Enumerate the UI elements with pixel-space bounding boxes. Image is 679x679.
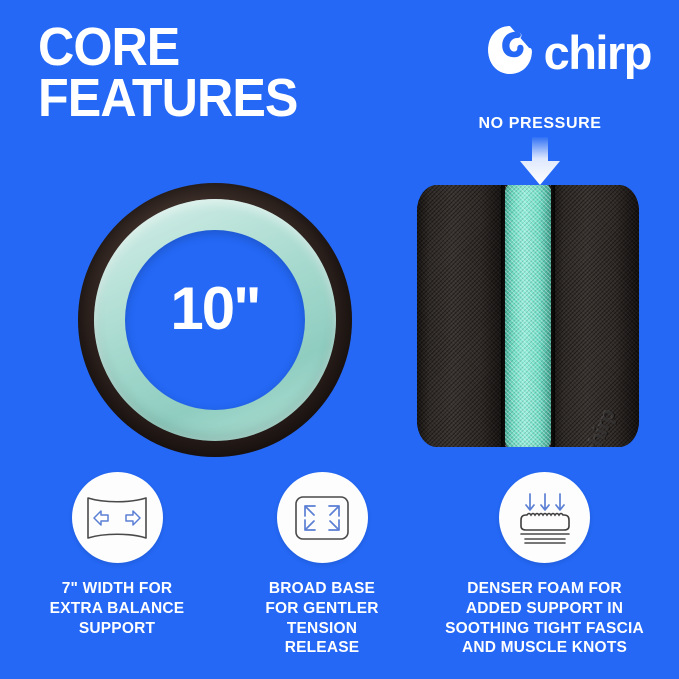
- feature-caption: BROAD BASE FOR GENTLER TENSION RELEASE: [265, 579, 378, 658]
- feature-caption-line: BROAD BASE: [265, 579, 378, 599]
- side-wheel-texture-right: [551, 185, 639, 447]
- brand-logo: chirp: [484, 24, 651, 76]
- feature-caption-line: DENSER FOAM FOR: [445, 579, 644, 599]
- page-title-line-1: CORE: [38, 22, 410, 73]
- product-image-side-wheel: chirp: [417, 185, 639, 447]
- feature-caption-line: EXTRA BALANCE: [50, 599, 185, 619]
- feature-item-denser-foam: DENSER FOAM FOR ADDED SUPPORT IN SOOTHIN…: [420, 472, 670, 658]
- feature-caption-line: FOR GENTLER: [265, 599, 378, 619]
- feature-caption-line: SOOTHING TIGHT FASCIA: [445, 619, 644, 639]
- feature-item-width: 7" WIDTH FOR EXTRA BALANCE SUPPORT: [10, 472, 225, 638]
- product-image-front-wheel: 10": [78, 183, 352, 457]
- page-title-line-2: FEATURES: [38, 73, 410, 124]
- dense-foam-pressure-icon: [511, 490, 579, 546]
- no-pressure-label: NO PRESSURE: [440, 115, 640, 133]
- infographic-page: CORE FEATURES chirp NO PRESSURE 10": [0, 0, 679, 679]
- brand-wordmark: chirp: [544, 29, 651, 76]
- feature-item-broad-base: BROAD BASE FOR GENTLER TENSION RELEASE: [225, 472, 420, 658]
- side-wheel-texture-left: [417, 185, 505, 447]
- wheel-size-label: 10": [78, 279, 352, 339]
- feature-caption: DENSER FOAM FOR ADDED SUPPORT IN SOOTHIN…: [445, 579, 644, 658]
- feature-caption-line: RELEASE: [265, 638, 378, 658]
- page-title: CORE FEATURES: [38, 22, 410, 125]
- side-wheel-band-left: [417, 185, 505, 447]
- feature-caption-line: 7" WIDTH FOR: [50, 579, 185, 599]
- feature-caption-line: TENSION: [265, 619, 378, 639]
- side-wheel-body: chirp: [417, 185, 639, 447]
- feature-list: 7" WIDTH FOR EXTRA BALANCE SUPPORT BROAD…: [0, 472, 679, 658]
- width-arrows-icon: [84, 495, 150, 541]
- feature-caption-line: SUPPORT: [50, 619, 185, 639]
- side-wheel-channel-texture: [505, 185, 551, 447]
- feature-icon-badge: [72, 472, 163, 563]
- feature-icon-badge: [277, 472, 368, 563]
- feature-caption: 7" WIDTH FOR EXTRA BALANCE SUPPORT: [50, 579, 185, 638]
- side-wheel-mint-channel: [505, 185, 551, 447]
- feature-caption-line: ADDED SUPPORT IN: [445, 599, 644, 619]
- feature-caption-line: AND MUSCLE KNOTS: [445, 638, 644, 658]
- feature-icon-badge: [499, 472, 590, 563]
- side-wheel-band-right: chirp: [551, 185, 639, 447]
- chirp-swirl-logo-icon: [484, 24, 536, 76]
- side-wheel-seam-right: [551, 185, 555, 447]
- expand-corners-icon: [293, 494, 351, 542]
- arrow-down-icon: [505, 137, 575, 185]
